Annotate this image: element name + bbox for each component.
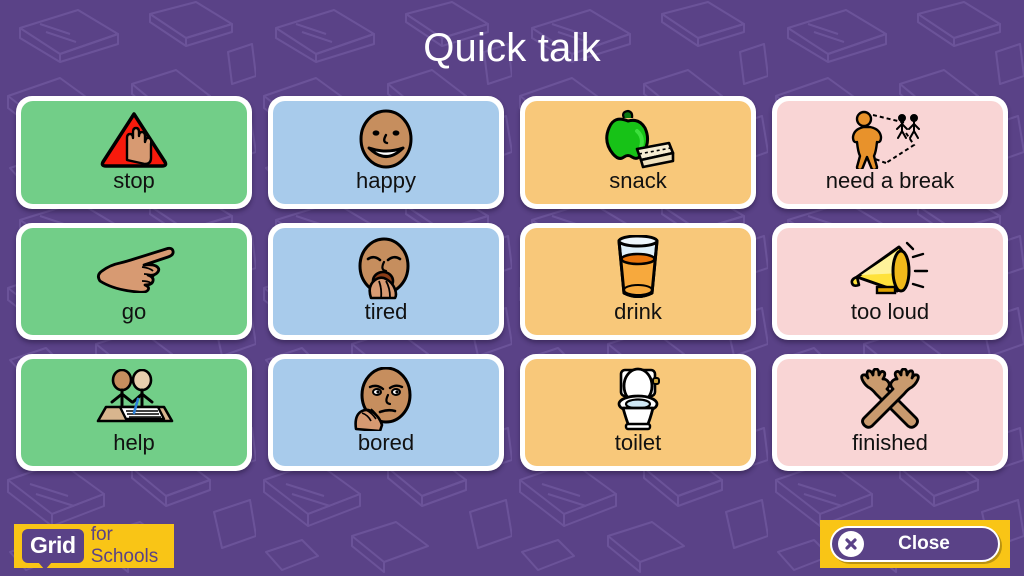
cell-label: finished (852, 432, 928, 466)
grid-cell-tired[interactable]: tired (268, 223, 504, 340)
grid-cell-toilet[interactable]: toilet (520, 354, 756, 471)
person-away-icon (777, 108, 1003, 170)
stop-hand-triangle-icon (21, 108, 247, 170)
grid-cell-need-a-break[interactable]: need a break (772, 96, 1008, 209)
close-button[interactable]: Close (830, 526, 1000, 562)
grid-cell-too-loud[interactable]: too loud (772, 223, 1008, 340)
cell-label: too loud (851, 301, 929, 335)
close-x-icon (838, 531, 864, 557)
close-bar: Close (820, 520, 1010, 568)
cell-label: bored (358, 432, 414, 466)
cell-label: go (122, 301, 146, 335)
cell-label: help (113, 432, 155, 466)
grid-cell-happy[interactable]: happy (268, 96, 504, 209)
toilet-icon (525, 366, 751, 432)
two-people-desk-icon (21, 366, 247, 432)
pointing-hand-icon (21, 235, 247, 301)
page-title: Quick talk (0, 26, 1024, 71)
close-button-label: Close (864, 533, 998, 555)
yawning-face-icon (273, 235, 499, 301)
grid-cell-help[interactable]: help (16, 354, 252, 471)
grid-cell-stop[interactable]: stop (16, 96, 252, 209)
grid-for-schools-logo: Grid for Schools (14, 524, 174, 568)
logo-speech-bubble: Grid (22, 529, 84, 563)
quick-talk-screen: Quick talk stop (0, 0, 1024, 576)
cell-label: stop (113, 170, 155, 204)
apple-sandwich-icon (525, 108, 751, 170)
cell-label: toilet (615, 432, 661, 466)
cell-label: happy (356, 170, 416, 204)
logo-brand-text: Grid (30, 532, 76, 558)
smiling-face-icon (273, 108, 499, 170)
glass-of-juice-icon (525, 235, 751, 301)
grid-cell-go[interactable]: go (16, 223, 252, 340)
cell-label: drink (614, 301, 662, 335)
symbol-grid: stop happy (16, 96, 1008, 468)
cell-label: need a break (826, 170, 954, 204)
megaphone-icon (777, 235, 1003, 301)
crossed-arms-icon (777, 366, 1003, 432)
logo-suffix-text: for Schools (91, 524, 174, 568)
cell-label: snack (609, 170, 666, 204)
bored-face-icon (273, 366, 499, 432)
grid-cell-finished[interactable]: finished (772, 354, 1008, 471)
grid-cell-drink[interactable]: drink (520, 223, 756, 340)
grid-cell-snack[interactable]: snack (520, 96, 756, 209)
grid-cell-bored[interactable]: bored (268, 354, 504, 471)
cell-label: tired (365, 301, 408, 335)
